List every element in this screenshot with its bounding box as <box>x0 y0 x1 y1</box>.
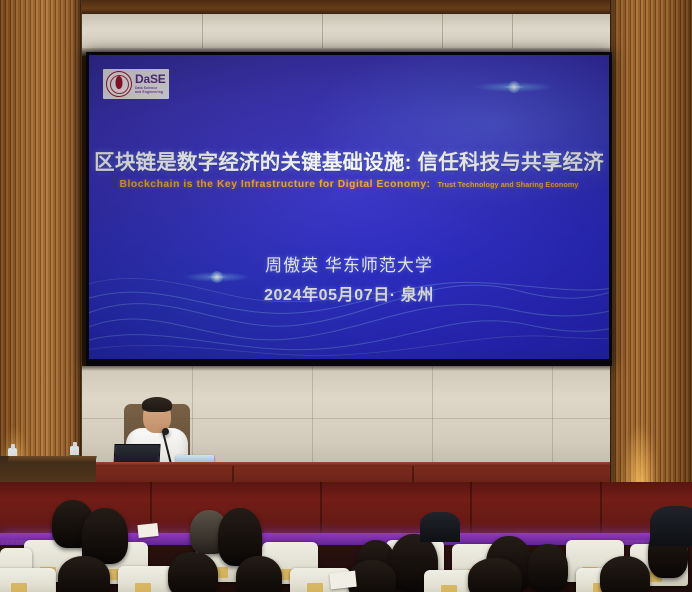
logo-sub-line2: and Engineering <box>135 91 166 94</box>
audience-shoulders <box>420 512 460 542</box>
university-seal-icon <box>106 71 132 97</box>
slide-title-chinese: 区块链是数字经济的关键基础设施: 信任科技与共享经济 <box>89 145 609 175</box>
slide-subtitle-main: Blockchain is the Key Infrastructure for… <box>120 179 431 190</box>
speaker-glasses <box>145 410 169 416</box>
logo-main-text: DaSE <box>135 73 166 85</box>
lecture-hall-photo: DaSE Data Science and Engineering 区块链是数字… <box>0 0 692 592</box>
audience-head <box>168 552 218 592</box>
audience-head <box>236 556 282 592</box>
seat-front <box>0 568 56 592</box>
lens-flare-upper-right <box>459 80 569 94</box>
slide-subtitle-english: Blockchain is the Key Infrastructure for… <box>89 179 609 190</box>
handout-paper <box>329 571 357 590</box>
slide-canvas: DaSE Data Science and Engineering 区块链是数字… <box>89 55 609 359</box>
handout-paper <box>137 523 158 538</box>
audience-head <box>600 556 650 592</box>
audience-head <box>58 556 110 592</box>
back-wall-upper <box>82 14 610 56</box>
slide-presenter: 周傲英 华东师范大学 <box>89 251 609 276</box>
ceiling <box>82 0 610 14</box>
microphone-head <box>162 428 169 435</box>
slide-date-location: 2024年05月07日· 泉州 <box>89 281 609 305</box>
audience-head <box>528 544 568 592</box>
audience-shoulders <box>650 506 692 546</box>
audience-head <box>468 558 522 592</box>
slide-subtitle-tail: Trust Technology and Sharing Economy <box>438 180 579 189</box>
dase-logo: DaSE Data Science and Engineering <box>103 69 169 99</box>
microphone-stem <box>162 431 172 464</box>
projection-screen: DaSE Data Science and Engineering 区块链是数字… <box>86 52 612 366</box>
